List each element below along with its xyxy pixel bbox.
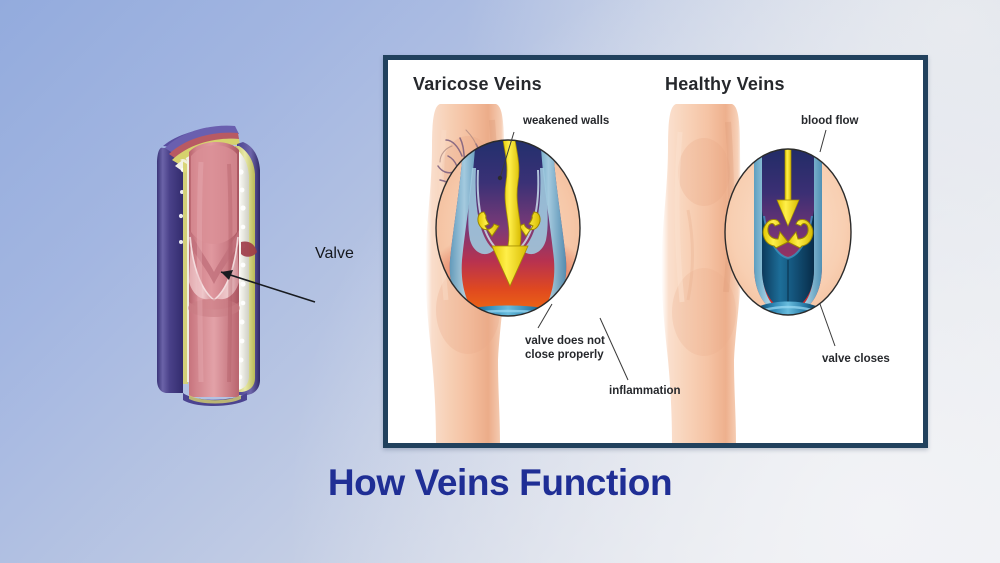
- veins-comparison-panel: Varicose Veins Healthy Veins weakened wa…: [383, 55, 928, 448]
- page-title: How Veins Function: [0, 462, 1000, 504]
- label-valve-does-not-close-properly: valve does not close properly: [525, 334, 605, 363]
- panel-inner: Varicose Veins Healthy Veins weakened wa…: [388, 60, 923, 443]
- heading-healthy-veins: Healthy Veins: [665, 74, 785, 95]
- vein-lumen: [188, 142, 240, 398]
- label-weakened-walls: weakened walls: [523, 114, 609, 128]
- vein-cross-section-figure: Valve: [143, 112, 383, 412]
- valve-label: Valve: [315, 245, 354, 263]
- label-blood-flow: blood flow: [801, 114, 858, 128]
- label-valve-closes: valve closes: [822, 352, 890, 366]
- heading-varicose-veins: Varicose Veins: [413, 74, 542, 95]
- label-inflammation: inflammation: [609, 384, 681, 398]
